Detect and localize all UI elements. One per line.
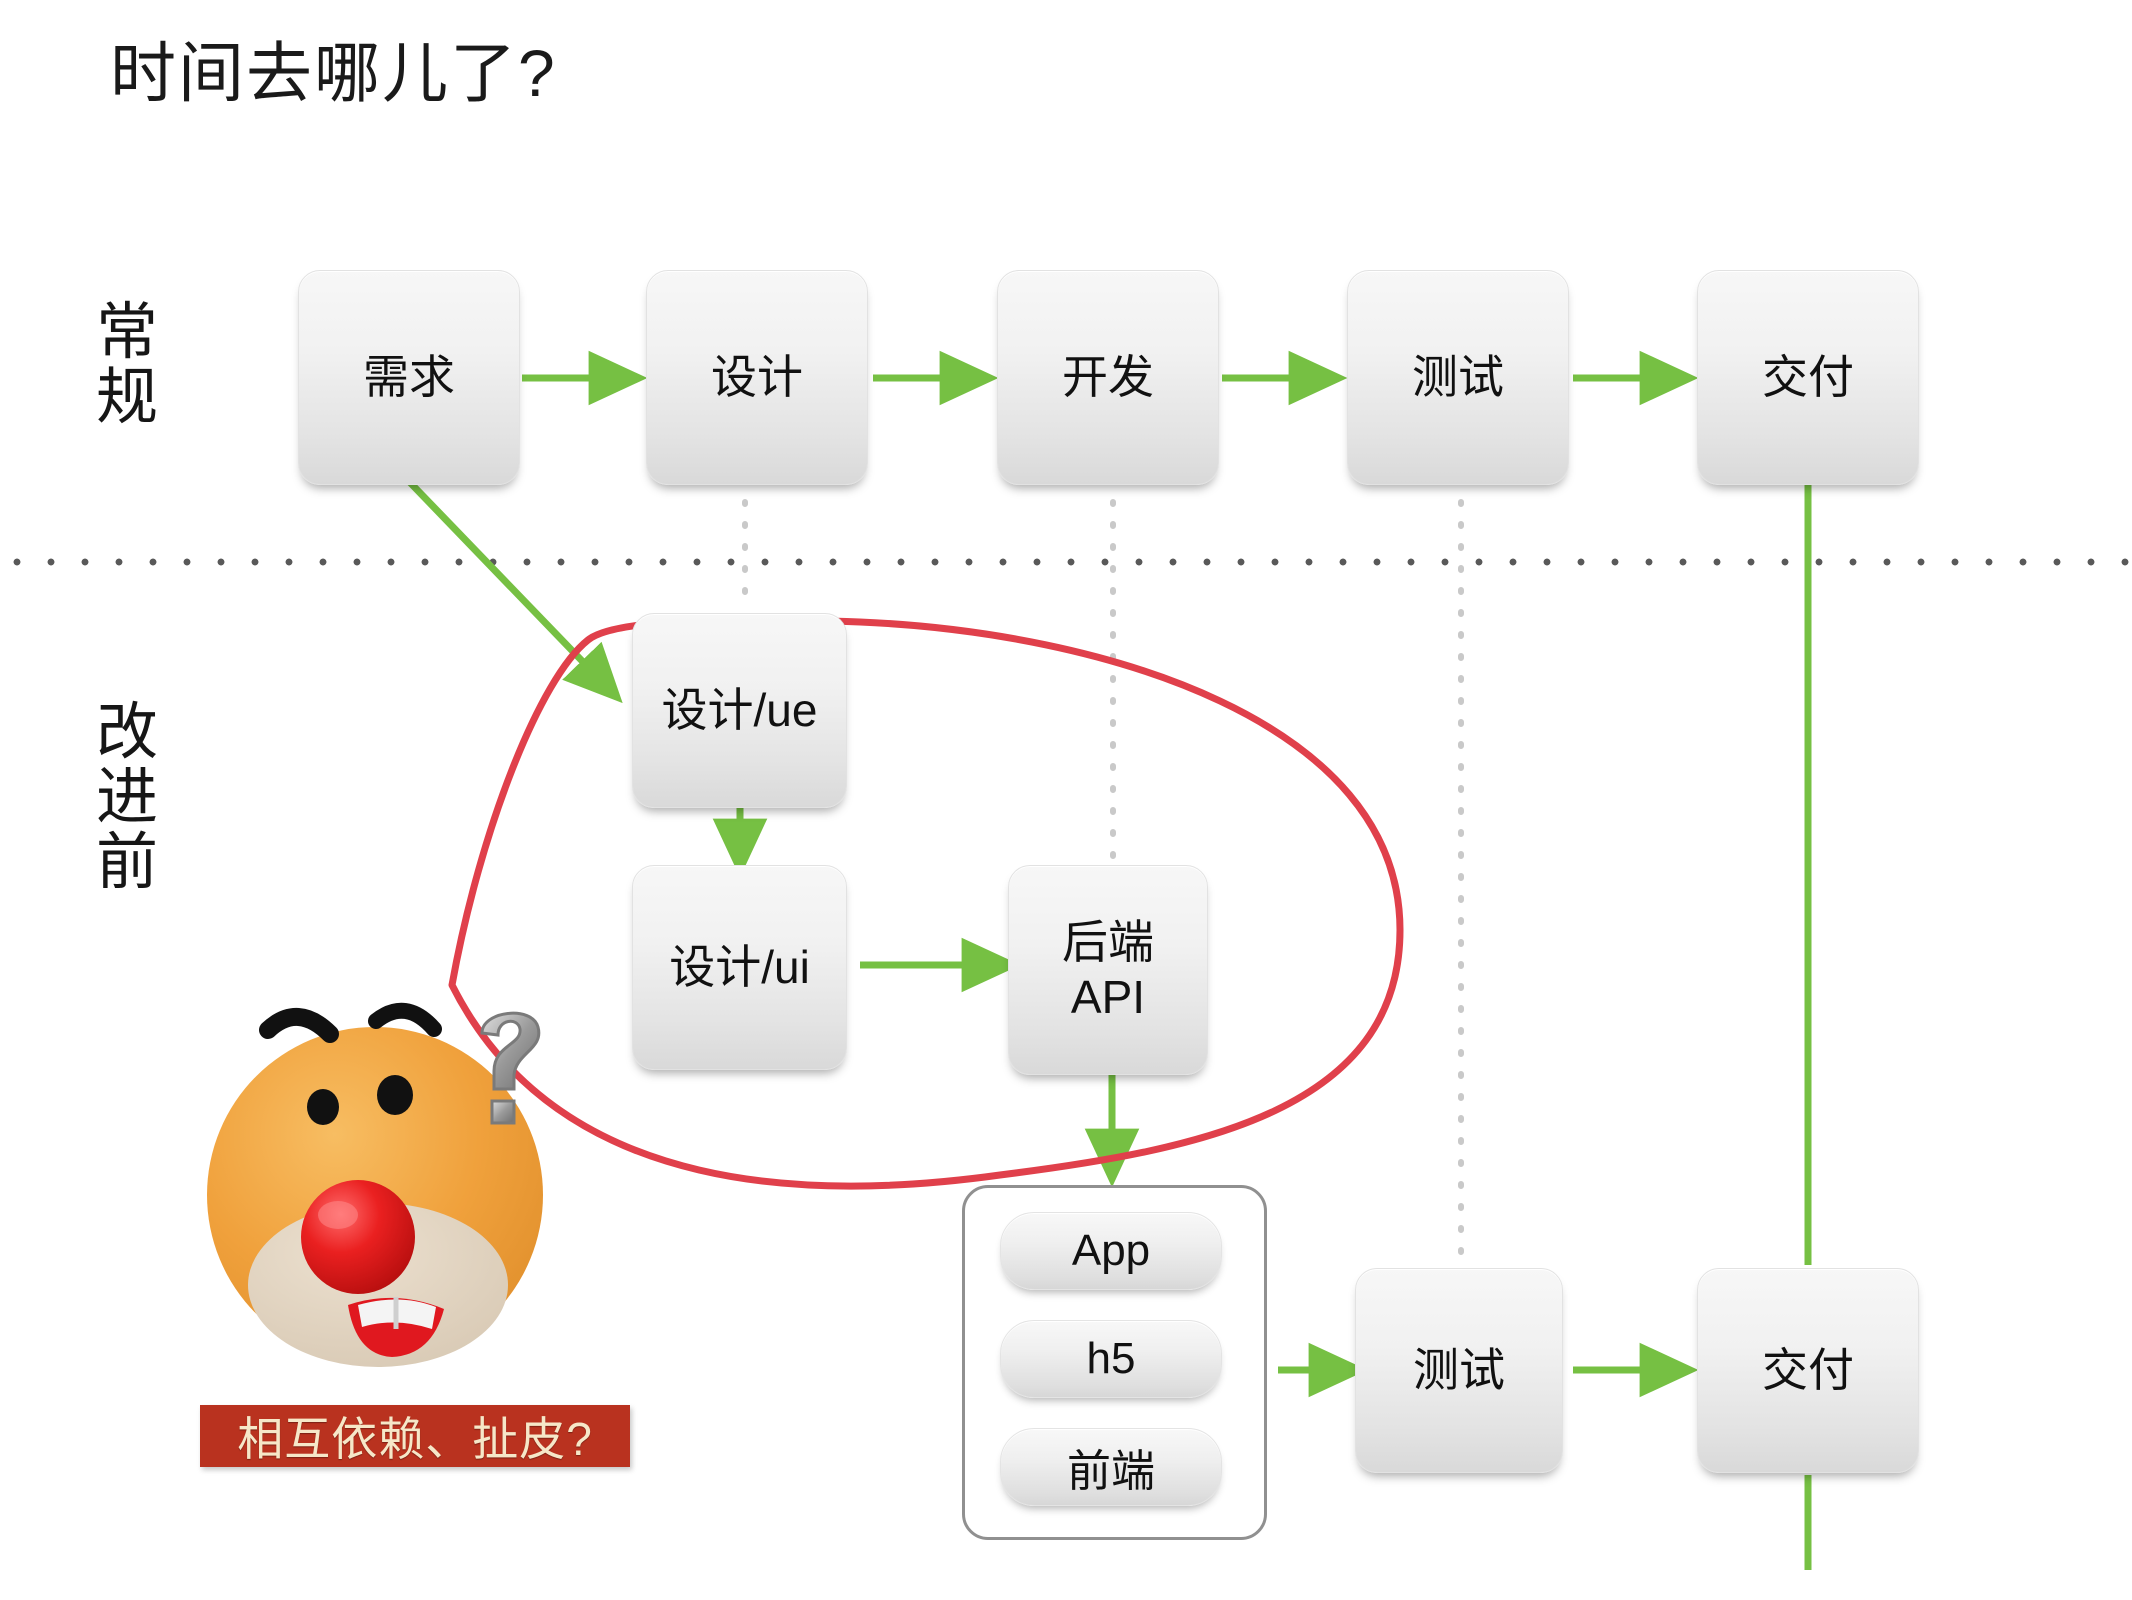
section-label-normal-text: 常规 <box>72 300 182 430</box>
node-design-ue[interactable]: 设计/ue <box>632 613 847 808</box>
node-test-top-label: 测试 <box>1412 350 1504 405</box>
node-development[interactable]: 开发 <box>997 270 1219 485</box>
node-design[interactable]: 设计 <box>646 270 868 485</box>
slide-canvas: 时间去哪儿了? 常规 改进前 <box>0 0 2132 1600</box>
pill-h5[interactable]: h5 <box>1000 1320 1222 1398</box>
face-nose <box>301 1180 415 1294</box>
face-eyebrow-right <box>376 1011 434 1029</box>
section-label-normal: 常规 <box>72 300 182 430</box>
node-backend-api[interactable]: 后端 API <box>1008 865 1208 1075</box>
node-design-ui-label: 设计/ui <box>669 940 810 995</box>
node-backend-api-label: 后端 API <box>1062 915 1154 1025</box>
status-banner-text: 相互依赖、扯皮? <box>237 1403 593 1469</box>
pill-h5-label: h5 <box>1087 1334 1136 1384</box>
pill-frontend-label: 前端 <box>1067 1435 1155 1499</box>
node-design-ue-label: 设计/ue <box>662 683 818 738</box>
pill-frontend[interactable]: 前端 <box>1000 1428 1222 1506</box>
arrow-req-to-designue <box>398 470 612 692</box>
node-design-label: 设计 <box>711 350 803 405</box>
face-eye-left <box>307 1089 339 1125</box>
node-test-bottom-label: 测试 <box>1413 1343 1505 1398</box>
section-divider <box>0 556 2132 568</box>
node-requirements[interactable]: 需求 <box>298 270 520 485</box>
node-requirements-label: 需求 <box>363 350 455 405</box>
face-eyebrow-left <box>268 1017 330 1034</box>
node-test-top[interactable]: 测试 <box>1347 270 1569 485</box>
red-dependency-loop <box>452 620 1400 1186</box>
node-test-bottom[interactable]: 测试 <box>1355 1268 1563 1473</box>
node-deliver-top-label: 交付 <box>1762 350 1854 405</box>
pill-app-label: App <box>1072 1226 1150 1276</box>
node-deliver-bottom-label: 交付 <box>1762 1343 1854 1398</box>
status-banner: 相互依赖、扯皮? <box>200 1405 630 1467</box>
node-deliver-top[interactable]: 交付 <box>1697 270 1919 485</box>
question-mark-icon <box>482 1013 539 1123</box>
face-nose-highlight <box>318 1201 358 1229</box>
section-label-before-text: 改进前 <box>72 700 182 895</box>
node-development-label: 开发 <box>1062 350 1154 405</box>
pill-app[interactable]: App <box>1000 1212 1222 1290</box>
section-label-before: 改进前 <box>72 700 182 895</box>
confused-face-emoji <box>190 985 580 1385</box>
node-deliver-bottom[interactable]: 交付 <box>1697 1268 1919 1473</box>
node-design-ui[interactable]: 设计/ui <box>632 865 847 1070</box>
page-title: 时间去哪儿了? <box>110 36 557 112</box>
face-eye-right <box>377 1075 413 1115</box>
